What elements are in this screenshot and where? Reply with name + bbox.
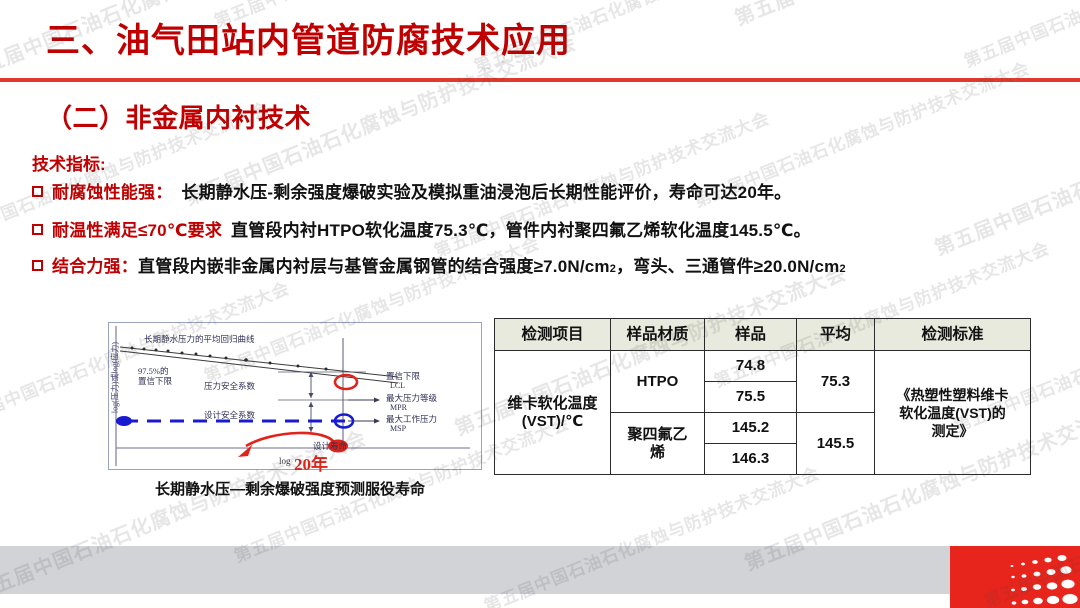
bullet-highlight: 结合力强： bbox=[52, 256, 138, 278]
col-header-material: 样品材质 bbox=[611, 319, 705, 351]
annotation-msp-en: MSP bbox=[390, 424, 406, 434]
cell-sample-1: 74.8 bbox=[705, 351, 797, 382]
test-results-table-wrapper: 检测项目 样品材质 样品 平均 检测标准 维卡软化温度 (VST)/℃ HTPO… bbox=[494, 318, 1031, 475]
cell-material-ptfe: 聚四氟乙 烯 bbox=[611, 413, 705, 475]
annotation-mpr-en: MPR bbox=[390, 403, 407, 413]
cell-standard: 《热塑性塑料维卡 软化温度(VST)的 测定》 bbox=[875, 351, 1031, 475]
slide-canvas: 三、油气田站内管道防腐技术应用 （二）非金属内衬技术 技术指标: 耐腐蚀性能强 … bbox=[0, 0, 1080, 608]
annotation-confidence-2: 置信下限 bbox=[138, 376, 172, 386]
service-life-figure: log(压力)或log(应力) bbox=[98, 320, 482, 475]
test-results-table: 检测项目 样品材质 样品 平均 检测标准 维卡软化温度 (VST)/℃ HTPO… bbox=[494, 318, 1031, 475]
cell-standard-line3: 测定》 bbox=[877, 422, 1028, 440]
cell-standard-line2: 软化温度(VST)的 bbox=[877, 404, 1028, 422]
col-header-item: 检测项目 bbox=[495, 319, 611, 351]
figure-caption: 长期静水压—剩余爆破强度预测服役寿命 bbox=[98, 478, 482, 499]
annotation-life-value: 20年 bbox=[294, 450, 328, 475]
col-header-sample: 样品 bbox=[705, 319, 797, 351]
annotation-log-axis: log bbox=[279, 456, 291, 466]
bullet-item-bond-strength: 结合力强： 直管段内嵌非金属内衬层与基管金属钢管的结合强度≥7.0N/cm2，弯… bbox=[32, 256, 846, 280]
cell-material-ptfe-line1: 聚四氟乙 bbox=[613, 426, 702, 444]
watermark-text: 第五届中国石油石化腐蚀与防护技术交流大会 bbox=[960, 0, 1080, 73]
cell-test-item-line2: (VST)/℃ bbox=[497, 413, 608, 431]
bullet-body: 直管段内衬HTPO软化温度75.3℃，管件内衬聚四氟乙烯软化温度145.5℃。 bbox=[231, 220, 811, 242]
halftone-dots-decoration bbox=[950, 546, 1080, 608]
bullet-body-mid: ，弯头、三通管件≥20.0N/cm bbox=[616, 256, 839, 278]
annotation-lcl-en: LCL bbox=[390, 381, 405, 391]
watermark-text: 第五届中国石油石化腐蚀与防护技术交流大会 bbox=[930, 78, 1080, 262]
annotation-mpr-cn: 最大压力等级 bbox=[386, 393, 437, 403]
cell-test-item: 维卡软化温度 (VST)/℃ bbox=[495, 351, 611, 475]
footer-logo-block bbox=[950, 546, 1080, 608]
bullet-body: 长期静水压-剩余强度爆破实验及模拟重油浸泡后长期性能评价，寿命可达20年。 bbox=[181, 182, 791, 204]
annotation-lcl-cn: 置信下限 bbox=[386, 371, 420, 381]
cell-test-item-line1: 维卡软化温度 bbox=[497, 395, 608, 413]
bullet-highlight: 耐温性满足≤70℃要求 bbox=[52, 220, 222, 242]
annotation-pressure-safety-factor: 压力安全系数 bbox=[204, 381, 255, 391]
annotation-confidence-1: 97.5%的 bbox=[138, 366, 168, 376]
bullet-superscript-2: 2 bbox=[839, 258, 845, 280]
bullet-item-temperature: 耐温性满足≤70℃要求 直管段内衬HTPO软化温度75.3℃，管件内衬聚四氟乙烯… bbox=[32, 220, 811, 242]
bullet-highlight: 耐腐蚀性能强 bbox=[52, 182, 155, 204]
square-bullet-icon bbox=[32, 186, 43, 197]
square-bullet-icon bbox=[32, 260, 43, 271]
watermark-layer: 第五届中国石油石化腐蚀与防护技术交流大会第五届中国石油石化腐蚀与防护技术交流大会… bbox=[0, 0, 1080, 608]
bullet-separator: ： bbox=[155, 182, 172, 204]
cell-standard-line1: 《热塑性塑料维卡 bbox=[877, 386, 1028, 404]
title-divider bbox=[0, 78, 1080, 82]
cell-sample-2: 75.5 bbox=[705, 382, 797, 413]
tech-indicators-label: 技术指标: bbox=[32, 150, 106, 175]
footer-band bbox=[0, 546, 1080, 594]
cell-material-htpo: HTPO bbox=[611, 351, 705, 413]
cell-average-1: 75.3 bbox=[797, 351, 875, 413]
cell-average-2: 145.5 bbox=[797, 413, 875, 475]
col-header-standard: 检测标准 bbox=[875, 319, 1031, 351]
cell-sample-3: 145.2 bbox=[705, 413, 797, 444]
annotation-msp-cn: 最大工作压力 bbox=[386, 414, 437, 424]
table-header-row: 检测项目 样品材质 样品 平均 检测标准 bbox=[495, 319, 1031, 351]
annotation-mean-curve: 长期静水压力的平均回归曲线 bbox=[144, 334, 255, 344]
annotation-design-safety-factor: 设计安全系数 bbox=[204, 410, 255, 420]
subsection-title: （二）非金属内衬技术 bbox=[46, 98, 311, 135]
table-row: 维卡软化温度 (VST)/℃ HTPO 74.8 75.3 《热塑性塑料维卡 软… bbox=[495, 351, 1031, 382]
watermark-text: 第五届中国石油石化腐蚀与防护技术交流大会 bbox=[730, 0, 1080, 31]
col-header-average: 平均 bbox=[797, 319, 875, 351]
cell-sample-4: 146.3 bbox=[705, 444, 797, 475]
page-title: 三、油气田站内管道防腐技术应用 bbox=[46, 18, 571, 64]
cell-material-ptfe-line2: 烯 bbox=[613, 444, 702, 462]
bullet-item-corrosion: 耐腐蚀性能强 ： 长期静水压-剩余强度爆破实验及模拟重油浸泡后长期性能评价，寿命… bbox=[32, 182, 791, 204]
square-bullet-icon bbox=[32, 224, 43, 235]
bullet-body-pre: 直管段内嵌非金属内衬层与基管金属钢管的结合强度≥7.0N/cm bbox=[138, 256, 610, 278]
